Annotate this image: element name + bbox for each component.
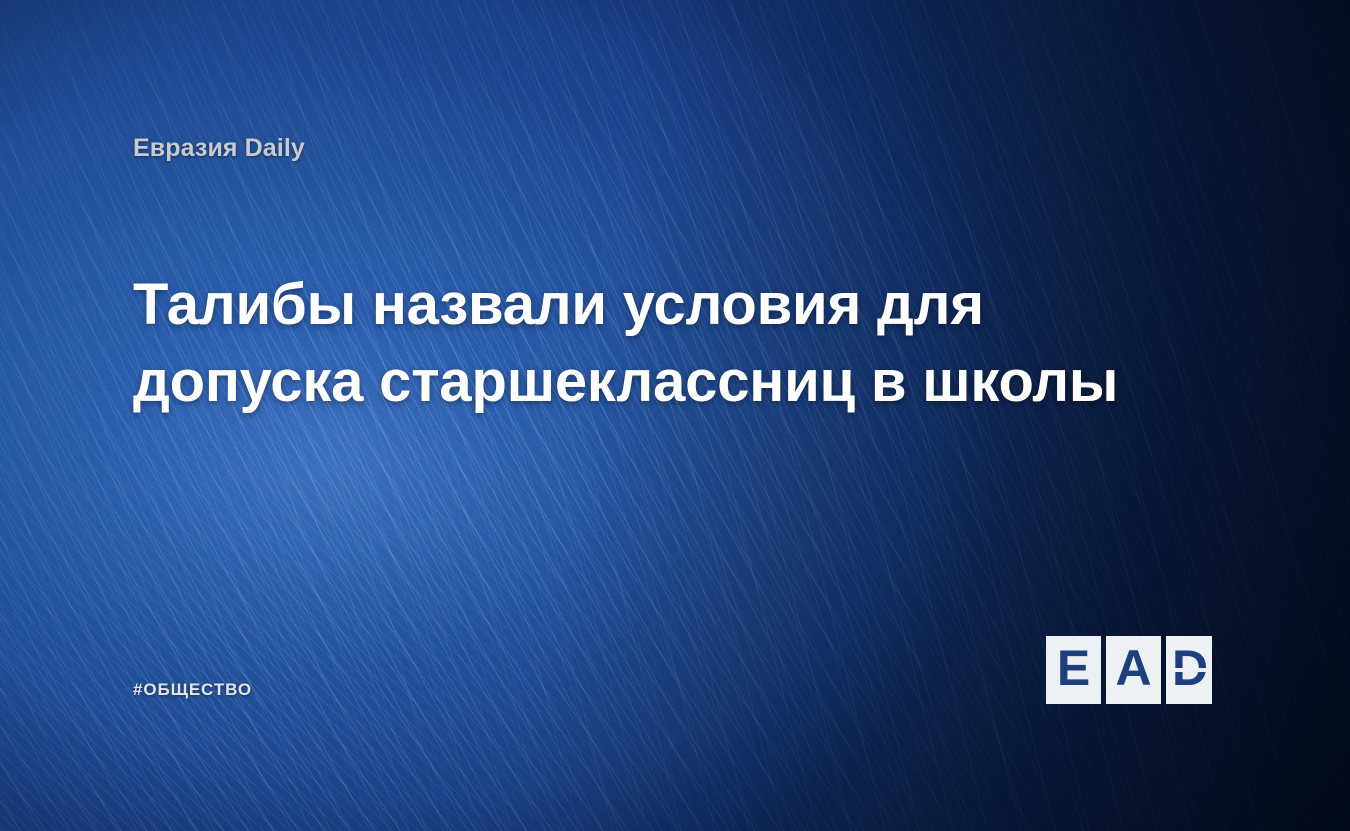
ead-logo-seam [1166,668,1212,672]
ead-logo-tile-a: A [1106,636,1161,704]
ead-logo: E A D [1046,636,1222,704]
ead-logo-tile-e: E [1046,636,1101,704]
social-share-card: Евразия Daily Талибы назвали условия для… [0,0,1350,831]
ead-logo-letter-a: A [1115,643,1151,693]
ead-logo-letter-e: E [1057,643,1090,693]
card-content: Евразия Daily Талибы назвали условия для… [0,0,1350,831]
rubric-tag-society[interactable]: #ОБЩЕСТВО [133,681,252,698]
brand-wordmark: Евразия Daily [133,136,305,161]
page-title: Талибы назвали условия для допуска старш… [133,266,1193,420]
